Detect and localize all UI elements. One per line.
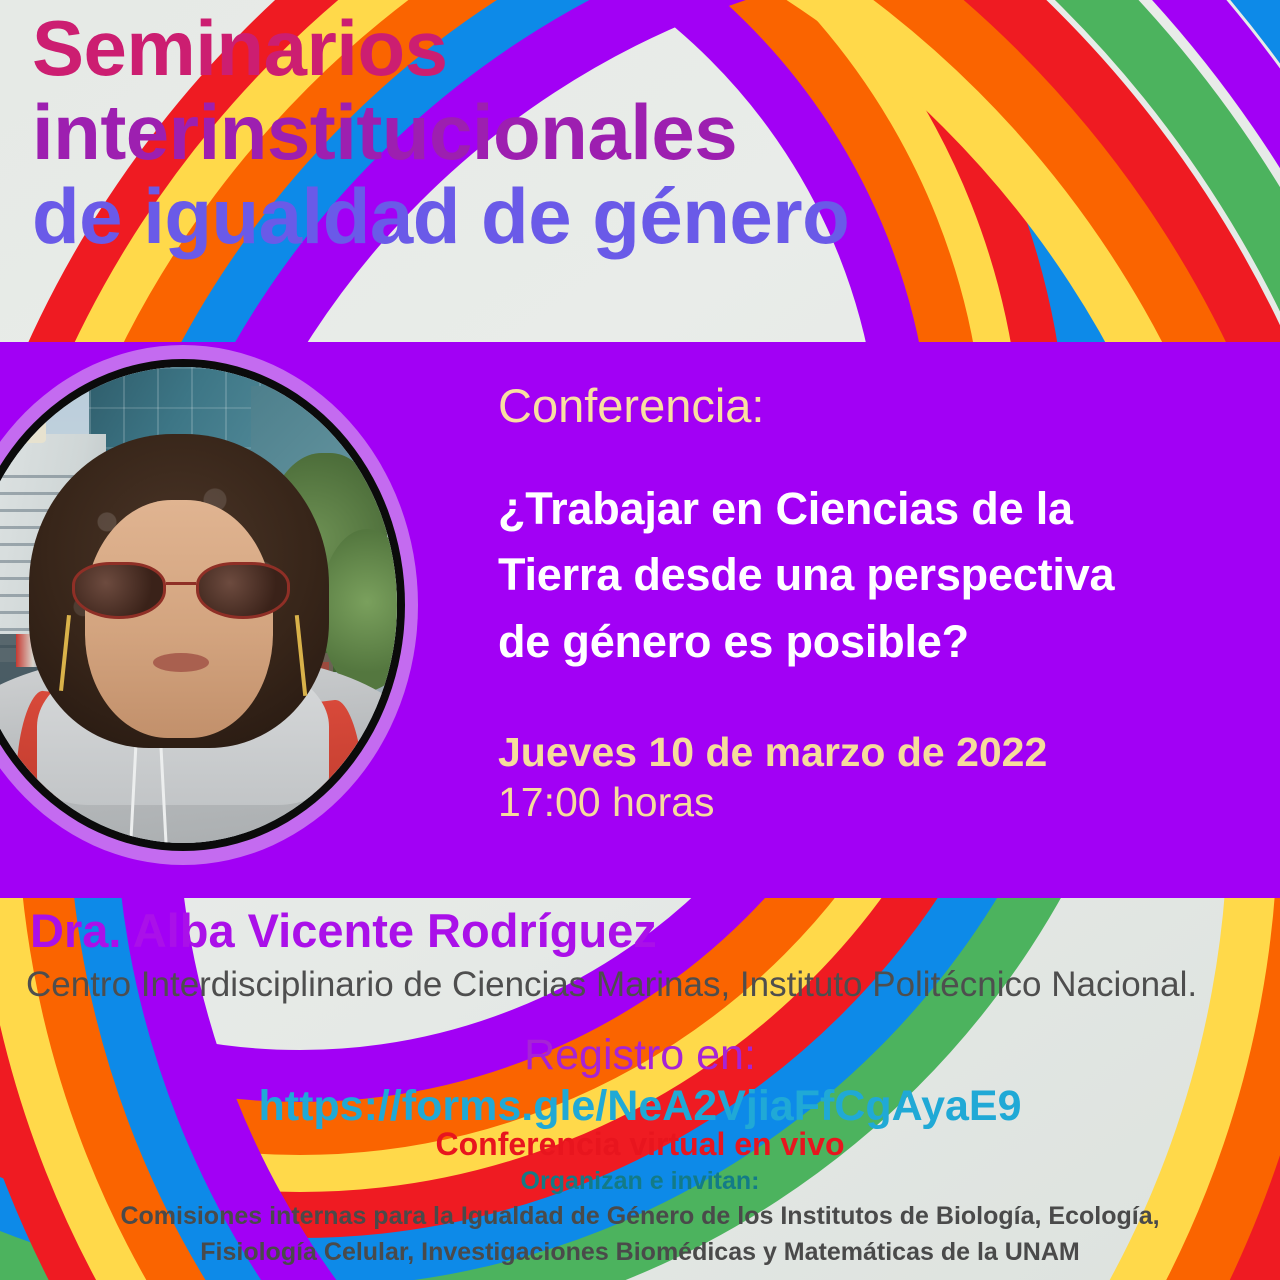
- speaker-name: Dra. Alba Vicente Rodríguez: [30, 903, 657, 958]
- registration-url-link[interactable]: https://forms.gle/NeA2VjiaFfCgAyaE9: [0, 1082, 1280, 1131]
- conference-title-line-1: ¿Trabajar en Ciencias de la: [498, 476, 1258, 543]
- registration-label: Registro en:: [0, 1031, 1280, 1080]
- speaker-portrait: [0, 345, 418, 865]
- conference-title-line-3: de género es posible?: [498, 609, 1258, 676]
- organizers-label: Organizan e invitan:: [0, 1167, 1280, 1196]
- conference-title: ¿Trabajar en Ciencias de la Tierra desde…: [498, 476, 1258, 676]
- title-line-seminarios: Seminarios: [32, 6, 1042, 90]
- conference-time: 17:00 horas: [498, 777, 1258, 828]
- speaker-affiliation: Centro Interdisciplinario de Ciencias Ma…: [26, 965, 1197, 1005]
- photo-face: [85, 500, 273, 738]
- organizers-line-1: Comisiones internas para la Igualdad de …: [0, 1202, 1280, 1231]
- title-line-igualdad-de-genero: de igualdad de género: [32, 174, 1042, 258]
- page-title: Seminarios interinstitucionales de igual…: [32, 6, 1042, 259]
- photo-tower-dome: [0, 405, 46, 443]
- conference-title-line-2: Tierra desde una perspectiva: [498, 542, 1258, 609]
- title-line-interinstitucionales: interinstitucionales: [32, 90, 1042, 174]
- virtual-event-note: Conferencia virtual en vivo: [0, 1126, 1280, 1163]
- photo-lips: [153, 653, 209, 672]
- organizers-line-2: Fisiología Celular, Investigaciones Biom…: [0, 1238, 1280, 1267]
- sunglasses-icon: [72, 562, 290, 619]
- conference-date: Jueves 10 de marzo de 2022: [498, 727, 1258, 777]
- conferencia-label: Conferencia:: [498, 380, 1258, 432]
- poster-root: Seminarios interinstitucionales de igual…: [0, 0, 1280, 1280]
- conference-details: Conferencia: ¿Trabajar en Ciencias de la…: [498, 380, 1258, 829]
- portrait-photo: [0, 367, 397, 843]
